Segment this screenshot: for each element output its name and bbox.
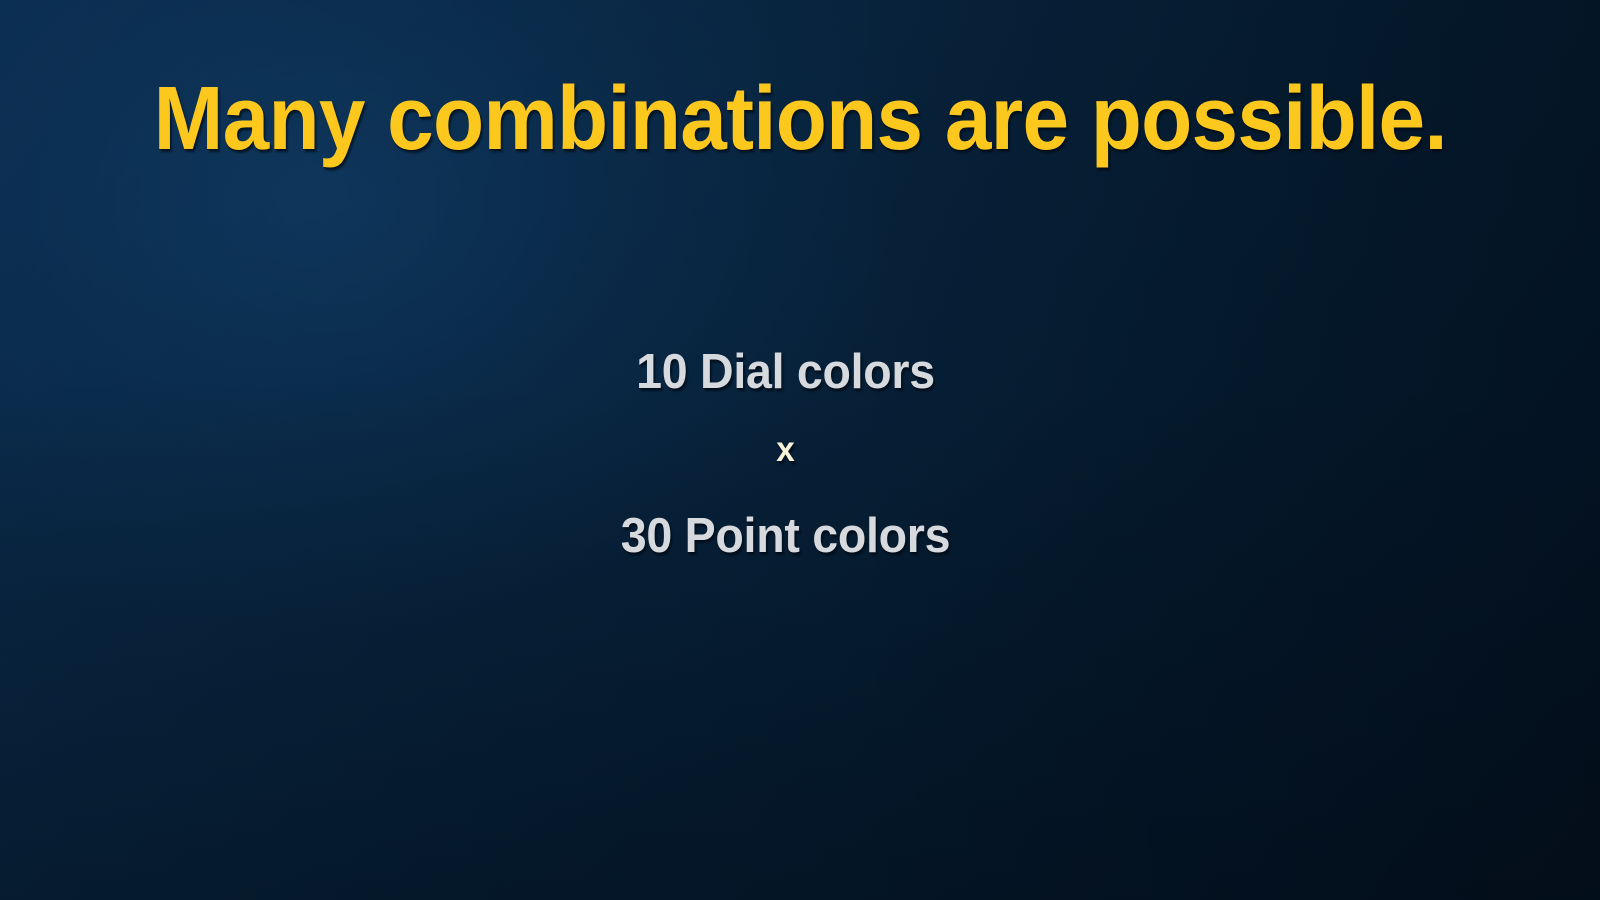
- point-colors-count: 30 Point colors: [39, 512, 1531, 561]
- slide-title-container: Many combinations are possible.: [0, 74, 1600, 164]
- slide-title: Many combinations are possible.: [153, 74, 1446, 164]
- slide-body-container: 10 Dial colors x 30 Point colors: [0, 348, 1571, 561]
- dial-colors-count: 10 Dial colors: [39, 348, 1531, 397]
- multiplication-operator: x: [39, 432, 1531, 467]
- presentation-slide: Many combinations are possible. 10 Dial …: [0, 0, 1600, 900]
